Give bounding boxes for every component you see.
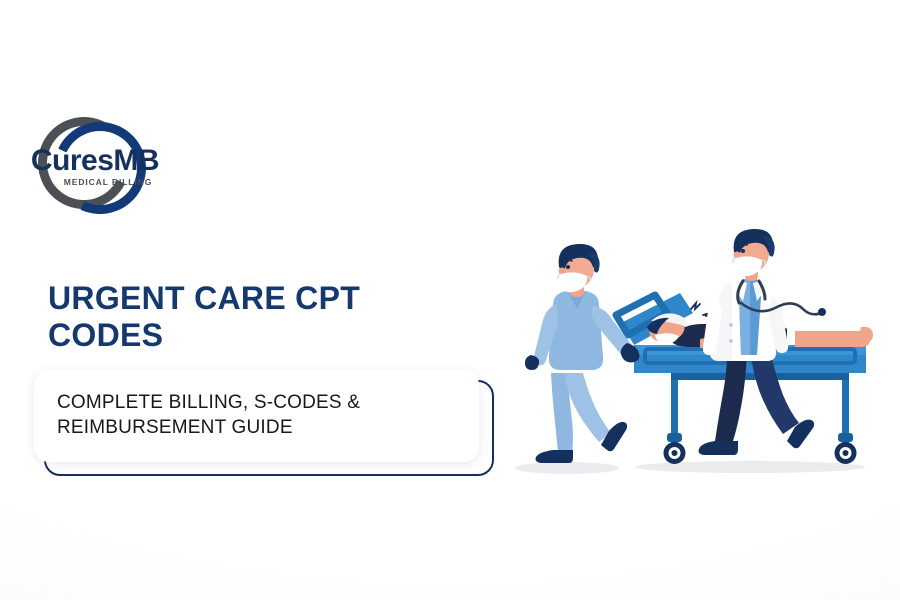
figure-nurse-in-scrubs	[525, 244, 639, 463]
logo-name: CuresMB	[30, 146, 160, 176]
shadow-gurney	[635, 461, 865, 473]
page-subtitle: COMPLETE BILLING, S-CODES & REIMBURSEMEN…	[34, 391, 479, 440]
medical-gurney-illustration	[495, 205, 895, 495]
subtitle-card-group: COMPLETE BILLING, S-CODES & REIMBURSEMEN…	[34, 370, 494, 476]
subtitle-card: COMPLETE BILLING, S-CODES & REIMBURSEMEN…	[34, 370, 479, 462]
hero-banner: CuresMB MEDICAL BILLING URGENT CARE CPT …	[0, 0, 900, 600]
shadow-nurse	[515, 462, 619, 474]
logo-wordmark: CuresMB MEDICAL BILLING	[30, 146, 160, 187]
logo-tagline: MEDICAL BILLING	[30, 178, 160, 187]
page-title: URGENT CARE CPT CODES	[48, 280, 438, 355]
brand-logo[interactable]: CuresMB MEDICAL BILLING	[30, 113, 160, 215]
